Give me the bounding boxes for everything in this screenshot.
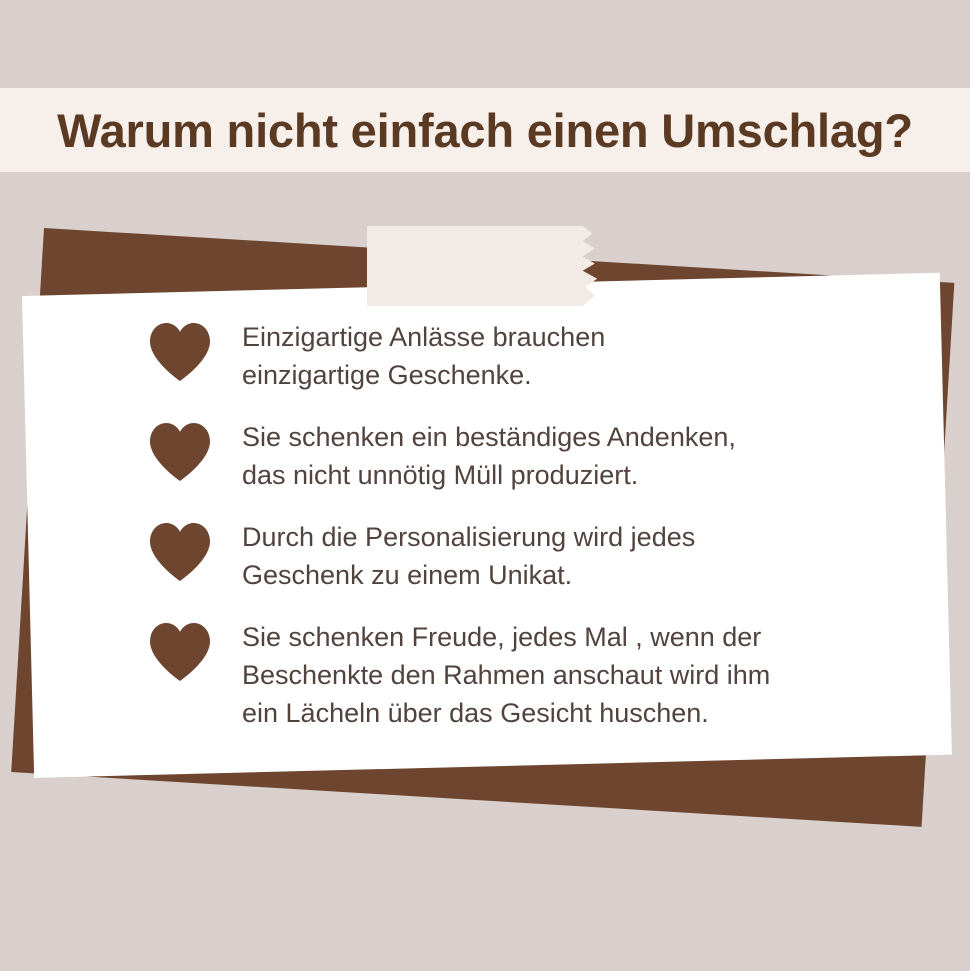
list-item-text: Sie schenken Freude, jedes Mal , wenn de… — [242, 616, 770, 732]
heart-icon — [148, 622, 212, 682]
heart-icon — [148, 322, 212, 382]
benefits-list: Einzigartige Anlässe brauchen einzigarti… — [148, 316, 848, 754]
list-item: Sie schenken ein beständiges Andenken, d… — [148, 416, 848, 494]
washi-tape-icon — [367, 226, 612, 306]
heart-icon — [148, 422, 212, 482]
poster-canvas: Warum nicht einfach einen Umschlag? Einz… — [0, 0, 970, 971]
heart-icon — [148, 522, 212, 582]
list-item-text: Einzigartige Anlässe brauchen einzigarti… — [242, 316, 605, 394]
list-item-text: Sie schenken ein beständiges Andenken, d… — [242, 416, 736, 494]
list-item: Sie schenken Freude, jedes Mal , wenn de… — [148, 616, 848, 732]
list-item: Durch die Personalisierung wird jedes Ge… — [148, 516, 848, 594]
list-item: Einzigartige Anlässe brauchen einzigarti… — [148, 316, 848, 394]
page-title: Warum nicht einfach einen Umschlag? — [57, 107, 913, 154]
title-banner: Warum nicht einfach einen Umschlag? — [0, 88, 970, 172]
list-item-text: Durch die Personalisierung wird jedes Ge… — [242, 516, 695, 594]
